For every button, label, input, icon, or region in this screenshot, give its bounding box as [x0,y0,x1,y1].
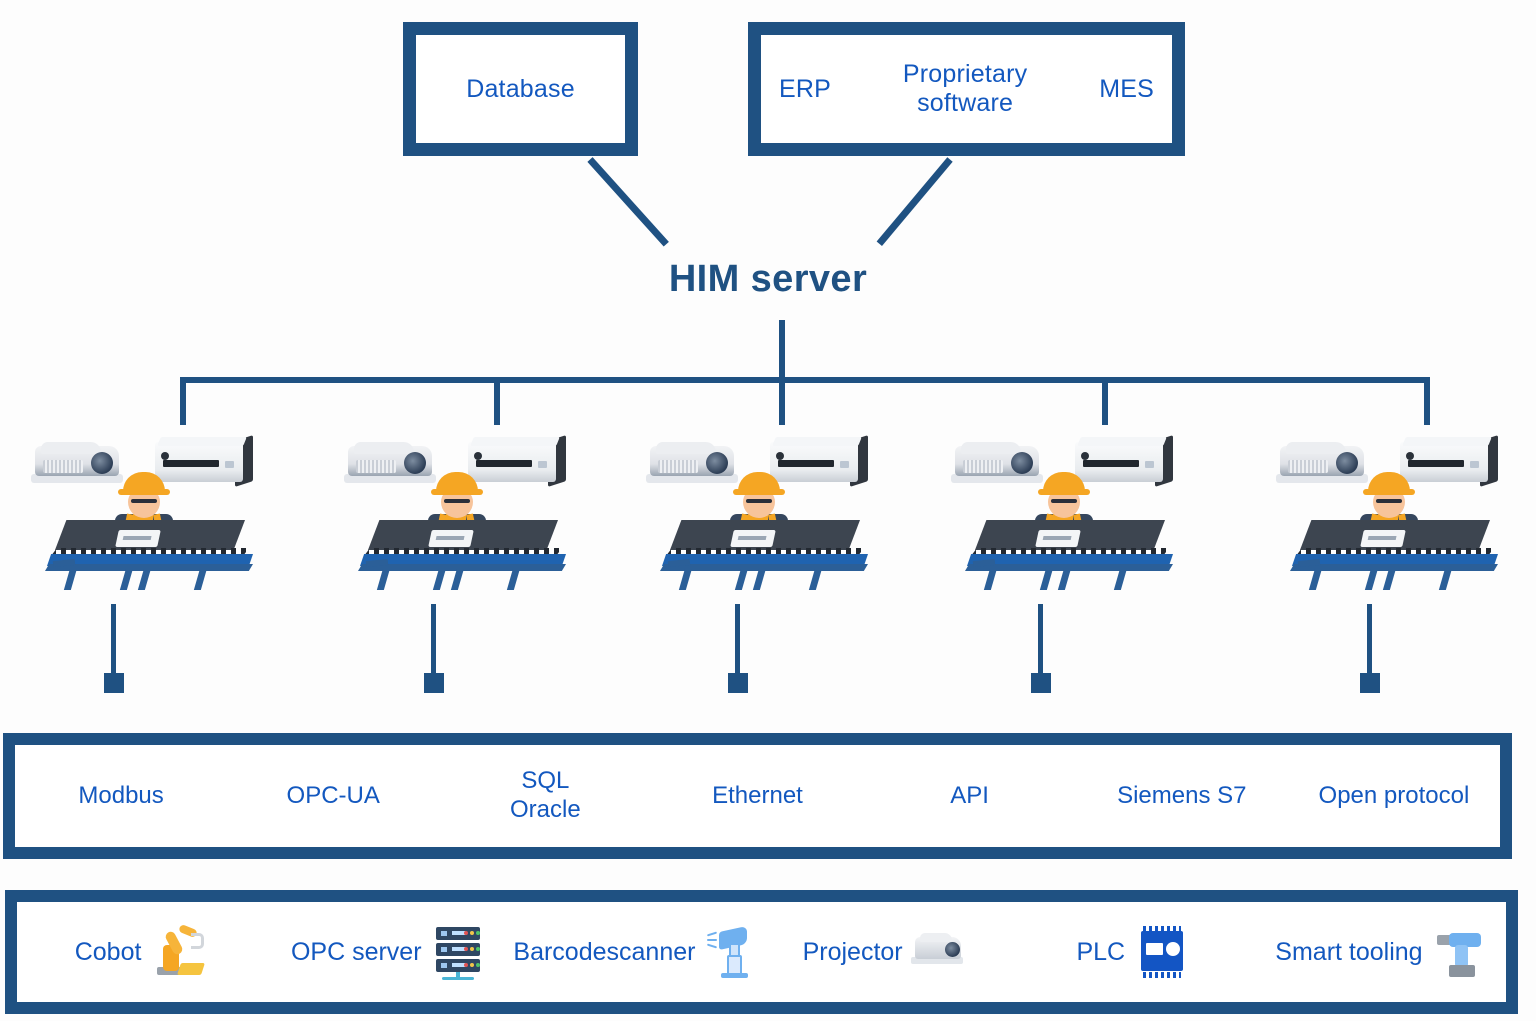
cobot-icon [149,923,207,981]
barcode-scanner-icon [703,923,761,981]
workbench [358,520,572,586]
protocol-item-sql-oracle[interactable]: SQL Oracle [439,767,651,825]
erp-label: ERP [779,75,831,104]
bus-drop-4 [1102,377,1108,425]
device-item-plc[interactable]: PLC [1010,923,1258,981]
smart-tooling-label: Smart tooling [1275,938,1422,967]
workstation-2-endpoint [424,673,444,693]
distribution-bus [180,377,1430,383]
device-item-opc-server[interactable]: OPC server [265,923,513,981]
device-bar: Cobot OPC server Barcodescanner Projecto… [5,890,1518,1014]
device-item-projector[interactable]: Projector [762,923,1010,981]
protocol-item-api[interactable]: API [864,782,1076,811]
workstation-4-endpoint [1031,673,1051,693]
protocol-item-siemens-s7[interactable]: Siemens S7 [1076,782,1288,811]
rack-server-icon [430,923,488,981]
workstation-5[interactable] [1270,430,1520,590]
connector-proprietary-to-him [877,157,953,246]
protocol-item-ethernet[interactable]: Ethernet [651,782,863,811]
mes-label: MES [1099,75,1154,104]
plc-label: PLC [1076,938,1125,967]
workbench [45,520,259,586]
workstation-5-droplink [1367,604,1372,676]
him-server-stem [779,320,785,380]
bus-drop-5 [1424,377,1430,425]
protocol-bar: Modbus OPC-UA SQL Oracle Ethernet API Si… [3,733,1512,859]
protocol-item-open-protocol[interactable]: Open protocol [1288,782,1500,811]
proprietary-software-box[interactable]: ERP Proprietary software MES [748,22,1185,156]
workstation-1[interactable] [25,430,275,590]
connector-database-to-him [587,157,668,246]
bus-drop-1 [180,377,186,425]
workbench [660,520,874,586]
projector-label: Projector [803,938,903,967]
plc-board-icon [1133,923,1191,981]
workstation-3[interactable] [640,430,890,590]
workbench [965,520,1179,586]
protocol-item-opc-ua[interactable]: OPC-UA [227,782,439,811]
projector-icon [911,923,969,981]
him-server-title: HIM server [0,258,1536,301]
bus-drop-3 [779,377,785,425]
database-label: Database [466,75,575,104]
workstation-5-endpoint [1360,673,1380,693]
proprietary-software-label: Proprietary software [903,60,1027,118]
protocol-item-modbus[interactable]: Modbus [15,782,227,811]
workstation-1-endpoint [104,673,124,693]
workstation-4[interactable] [945,430,1195,590]
workstation-2-droplink [431,604,436,676]
device-item-smart-tooling[interactable]: Smart tooling [1258,923,1506,981]
barcodescanner-label: Barcodescanner [513,938,695,967]
workstation-1-droplink [111,604,116,676]
power-drill-icon [1431,923,1489,981]
device-item-barcodescanner[interactable]: Barcodescanner [513,923,761,981]
opc-server-label: OPC server [291,938,422,967]
device-item-cobot[interactable]: Cobot [17,923,265,981]
cobot-label: Cobot [75,938,142,967]
workstation-3-droplink [735,604,740,676]
workbench [1290,520,1504,586]
workstation-3-endpoint [728,673,748,693]
proprietary-box-inner: ERP Proprietary software MES [761,35,1172,143]
database-box[interactable]: Database [403,22,638,156]
bus-drop-2 [494,377,500,425]
workstation-2[interactable] [338,430,588,590]
workstation-4-droplink [1038,604,1043,676]
